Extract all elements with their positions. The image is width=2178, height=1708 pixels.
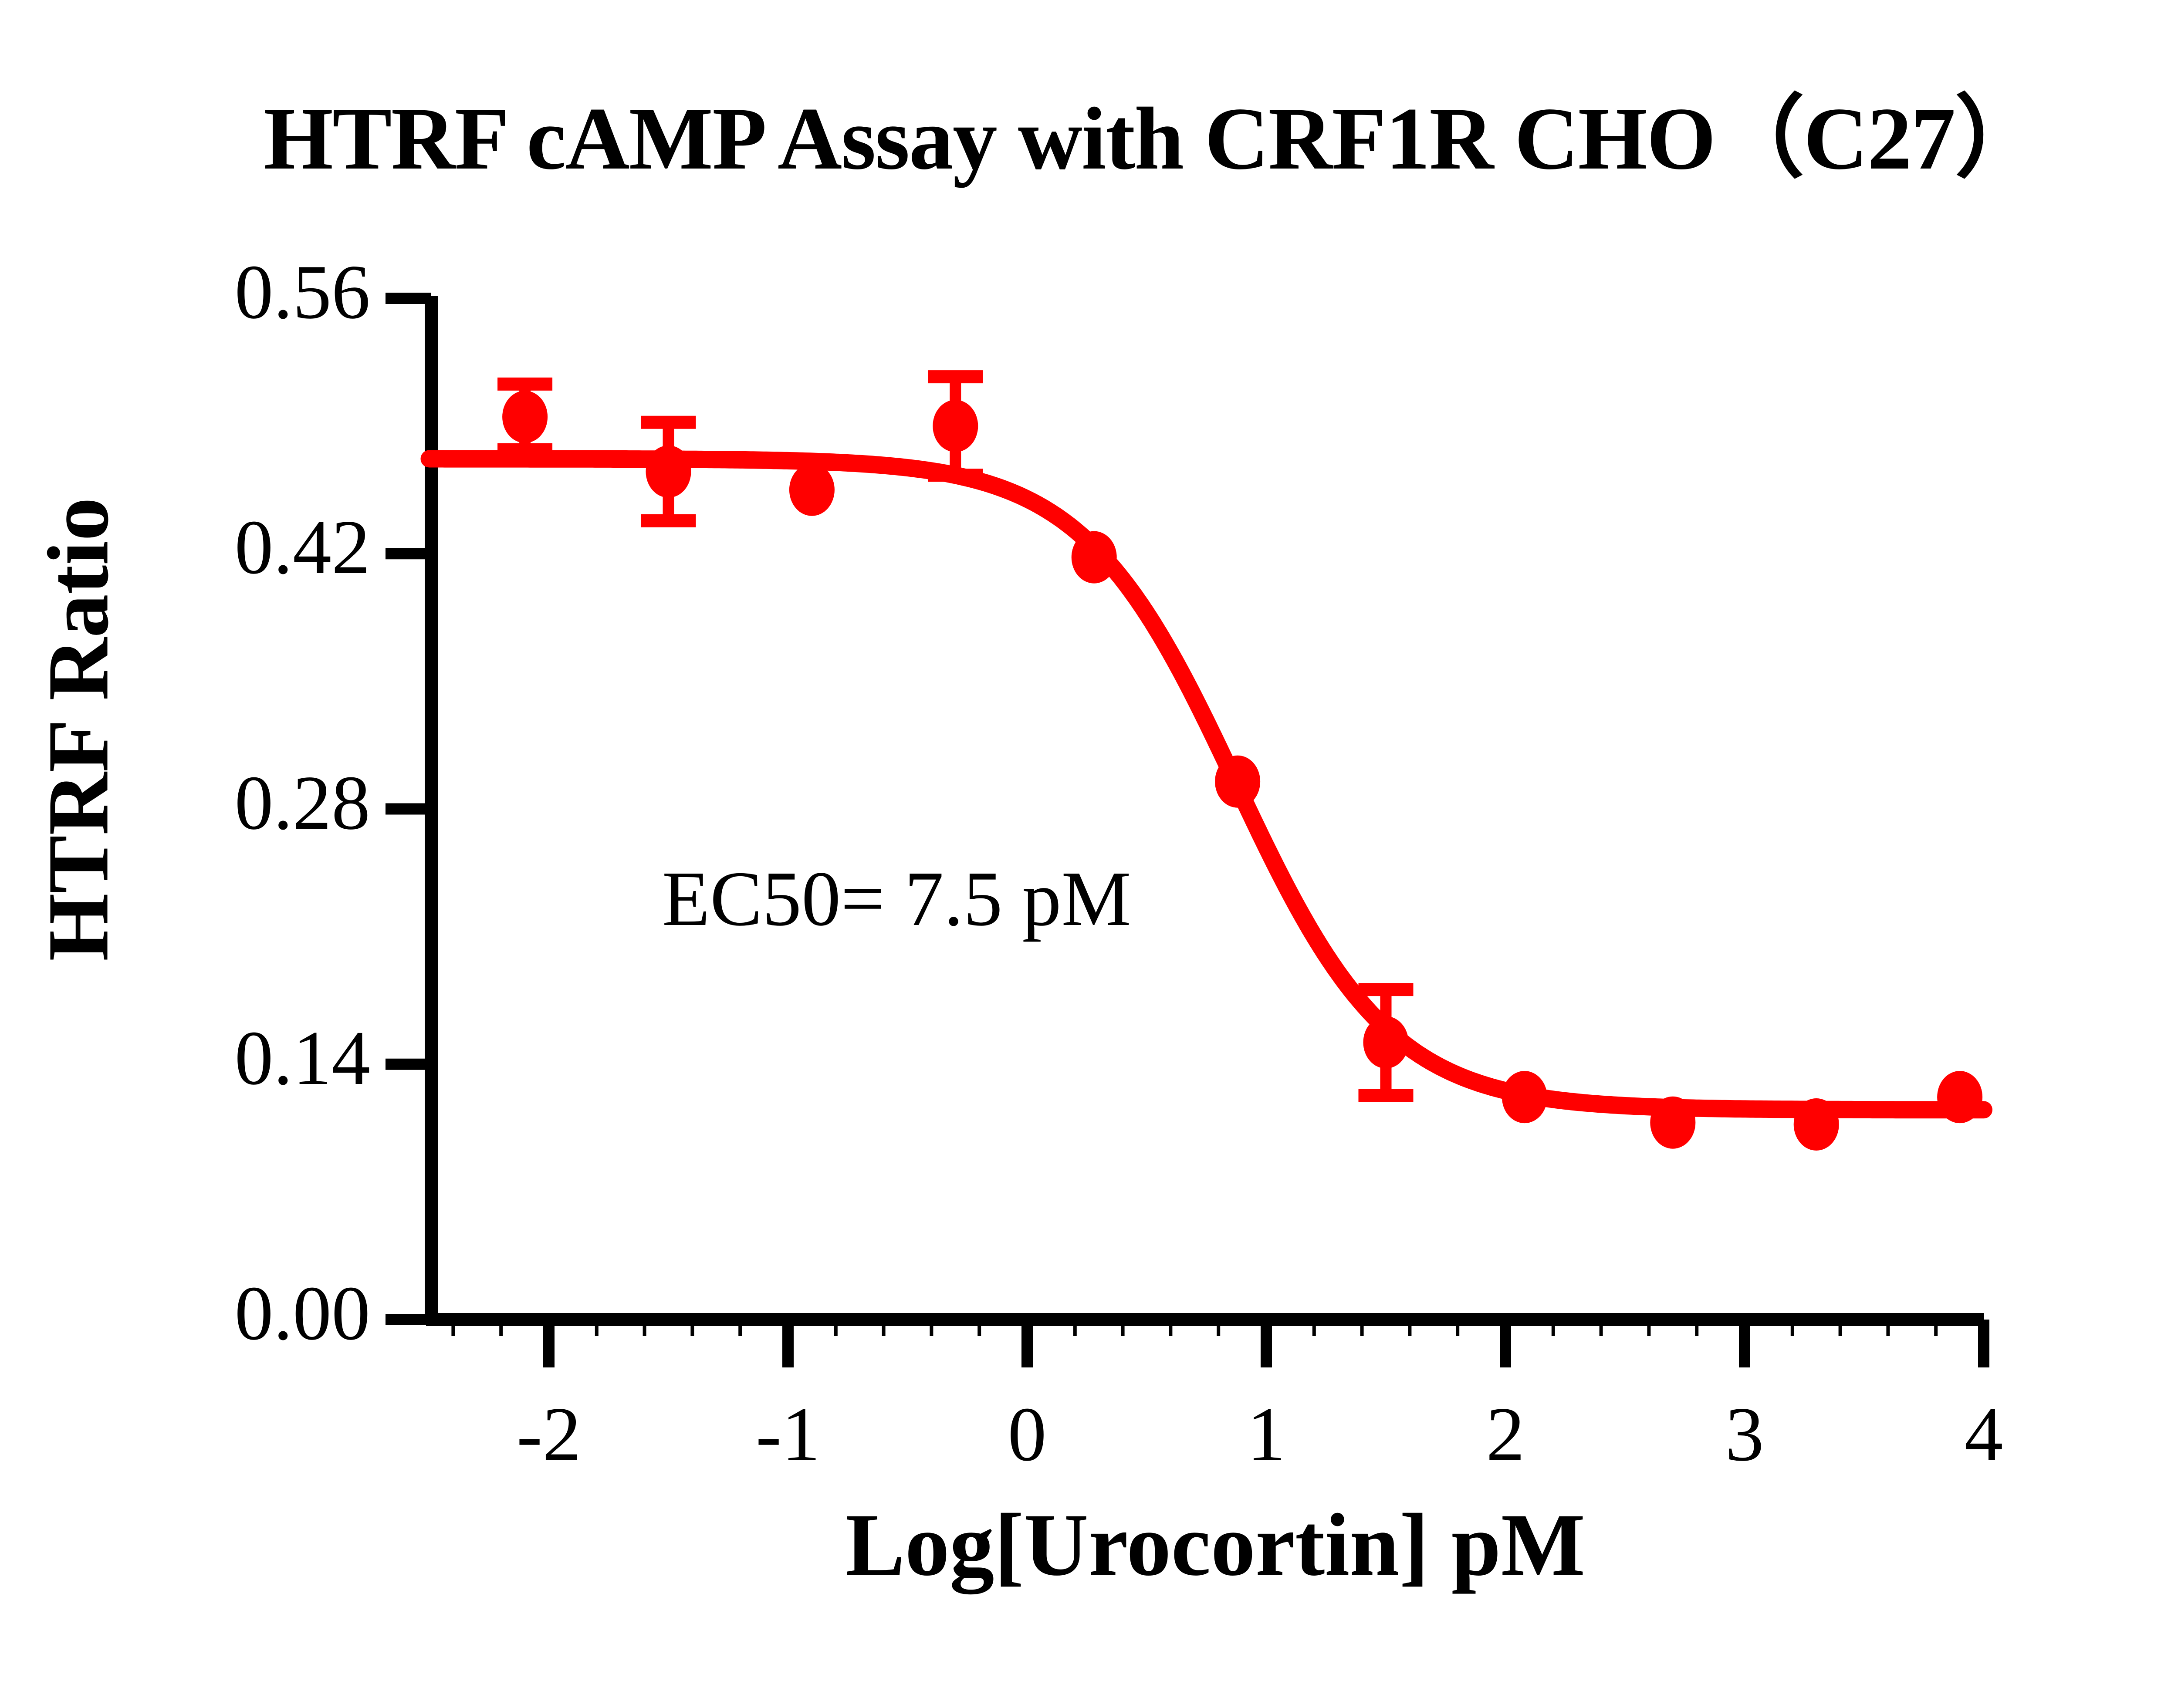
x-axis-tick-label: 2 <box>1486 1389 1525 1479</box>
x-axis-title: Log[Urocortin] pM <box>431 1494 1999 1597</box>
y-axis-tick-label: 0.14 <box>235 1013 371 1103</box>
y-axis-tick-label: 0.00 <box>235 1268 371 1358</box>
x-axis-tick-label: 0 <box>1008 1389 1047 1479</box>
data-point <box>1363 1016 1409 1069</box>
x-axis-tick-label: 1 <box>1247 1389 1286 1479</box>
data-point <box>1502 1071 1547 1123</box>
y-axis-title: HTRF Ratio <box>29 381 129 1078</box>
data-point <box>1072 531 1117 584</box>
data-point <box>1650 1097 1695 1149</box>
data-point <box>933 400 978 452</box>
fit-curve-group <box>430 459 1984 1110</box>
y-axis-tick-label: 0.56 <box>235 247 371 337</box>
data-point <box>1215 756 1260 808</box>
data-point <box>1794 1098 1839 1151</box>
data-point <box>1937 1071 1982 1123</box>
x-axis-tick-label: 4 <box>1965 1389 2003 1479</box>
data-points-group <box>502 391 1982 1151</box>
fit-curve <box>430 459 1984 1110</box>
x-axis-tick-label: 3 <box>1725 1389 1764 1479</box>
error-bars-group <box>497 377 1413 1095</box>
ec50-annotation: EC50= 7.5 pM <box>662 854 1131 944</box>
data-point <box>646 446 691 498</box>
y-axis-tick-label: 0.42 <box>235 502 371 592</box>
data-point <box>789 464 835 516</box>
y-axis-tick-label: 0.28 <box>235 758 371 847</box>
x-axis-tick-label: -2 <box>517 1389 581 1479</box>
data-point <box>502 391 548 443</box>
x-axis-tick-label: -1 <box>756 1389 820 1479</box>
